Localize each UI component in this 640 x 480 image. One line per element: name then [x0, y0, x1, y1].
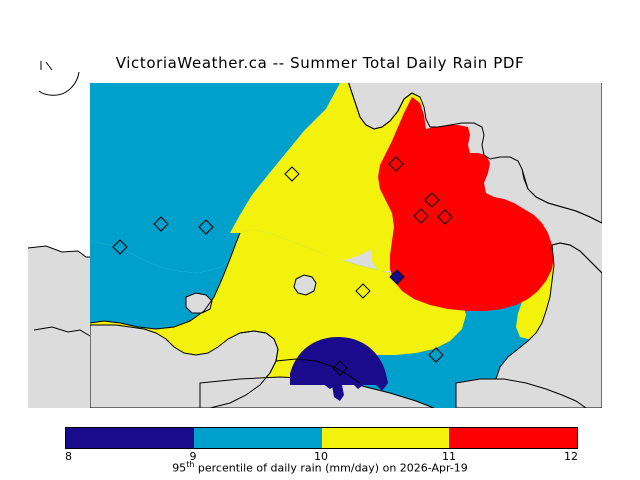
colorbar-segment-8-9 [66, 428, 194, 448]
colorbar-caption-prefix: 95 [172, 462, 186, 475]
colorbar-caption-rest: percentile of daily rain (mm/day) on 202… [194, 462, 467, 475]
weather-map-page: VictoriaWeather.ca -- Summer Total Daily… [0, 0, 640, 480]
colorbar[interactable] [65, 427, 578, 449]
colorbar-container: 8 9 10 11 12 [65, 427, 578, 449]
colorbar-caption: 95th percentile of daily rain (mm/day) o… [0, 460, 640, 475]
colorbar-segment-11-12 [449, 428, 577, 448]
page-title: VictoriaWeather.ca -- Summer Total Daily… [0, 54, 640, 72]
map-plot-area[interactable] [90, 83, 602, 408]
colorbar-segment-10-11 [322, 428, 450, 448]
colorbar-segment-9-10 [194, 428, 322, 448]
contour-map [90, 83, 602, 408]
